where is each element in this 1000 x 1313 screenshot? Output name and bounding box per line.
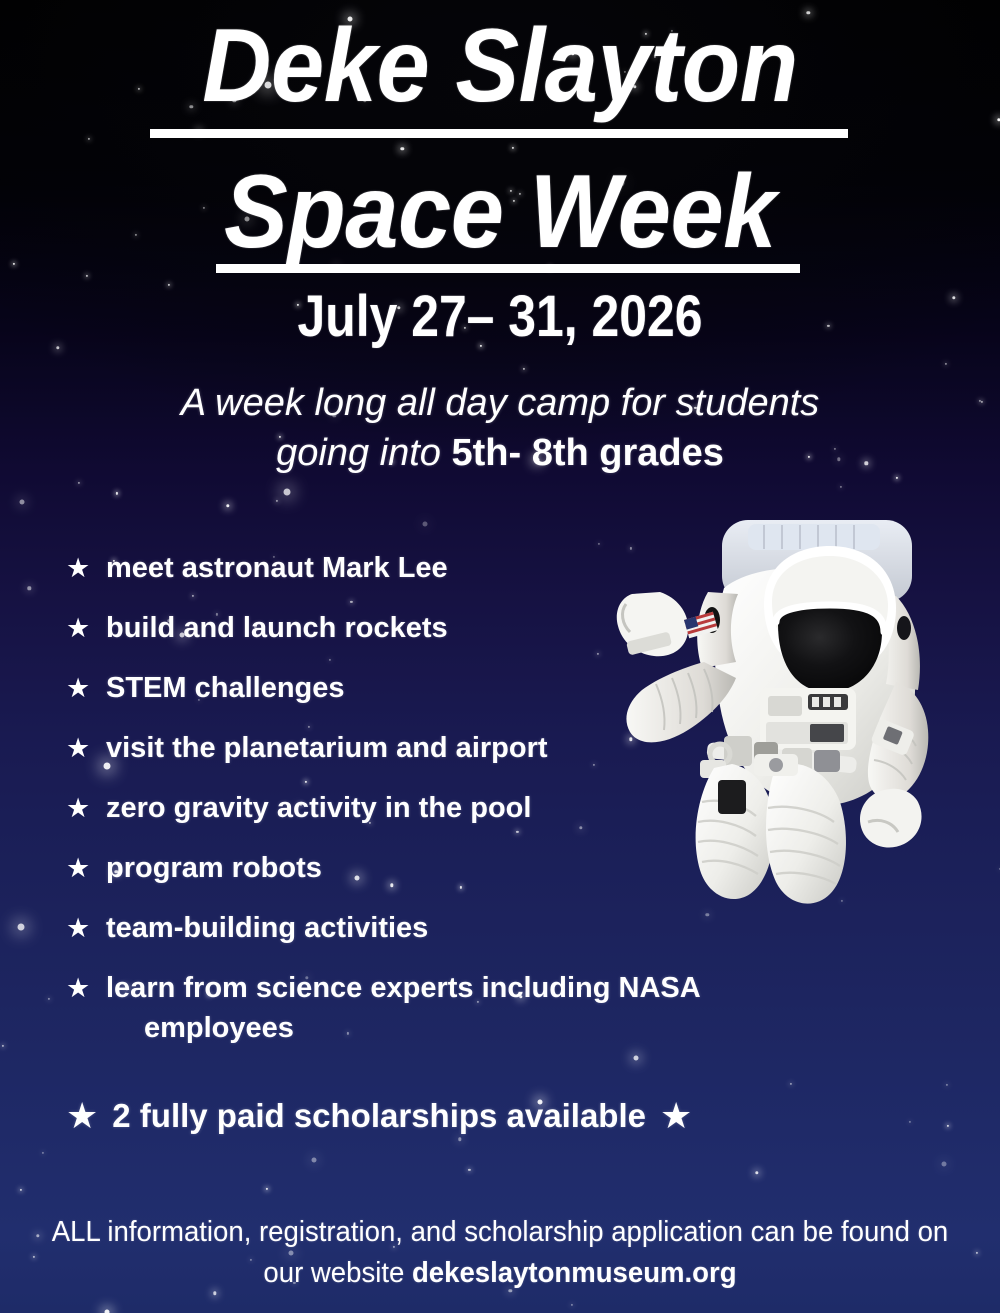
poster-date: July 27– 31, 2026 [70, 288, 930, 346]
star-dot [56, 346, 59, 349]
leg-pocket [718, 780, 746, 814]
star-dot [944, 363, 946, 365]
list-item-text: program robots [106, 852, 322, 884]
list-item-label: learn from science experts including NAS… [106, 968, 701, 1048]
star-dot [841, 900, 843, 902]
website-url[interactable]: dekeslaytonmuseum.org [412, 1257, 737, 1289]
poster-title-line1: Deke Slayton [40, 14, 960, 118]
list-item: ★program robots [66, 848, 706, 888]
star-icon: ★ [66, 548, 106, 588]
star-icon-left: ★ [66, 1094, 98, 1138]
list-item-label: visit the planetarium and airport [106, 728, 548, 768]
list-item-text: visit the planetarium and airport [106, 732, 548, 764]
list-item-text: learn from science experts including NAS… [106, 972, 701, 1004]
astronaut-helmet [764, 546, 896, 674]
activities-list: ★meet astronaut Mark Lee★build and launc… [66, 548, 706, 1068]
list-item-label: team-building activities [106, 908, 428, 948]
title-underline-1 [150, 129, 848, 138]
star-icon-right: ★ [660, 1094, 692, 1138]
star-dot [116, 492, 118, 494]
star-dot [226, 504, 229, 507]
list-item: ★zero gravity activity in the pool [66, 788, 706, 828]
star-dot [105, 1309, 110, 1313]
footer-line-2: our website dekeslaytonmuseum.org [25, 1253, 975, 1294]
star-dot [167, 284, 169, 286]
star-dot [20, 1189, 22, 1191]
astronaut-harness [700, 736, 857, 778]
star-dot [20, 500, 25, 505]
list-item-label: zero gravity activity in the pool [106, 788, 531, 828]
list-item: ★team-building activities [66, 908, 706, 948]
subtitle-line-1: A week long all day camp for students [0, 378, 1000, 428]
scholarship-text: 2 fully paid scholarships available [98, 1094, 660, 1138]
subtitle-line-2: going into 5th- 8th grades [0, 428, 1000, 478]
star-dot [458, 1138, 461, 1141]
list-item-label: meet astronaut Mark Lee [106, 548, 448, 588]
star-dot [942, 1162, 947, 1167]
star-dot [946, 1084, 948, 1086]
astronaut-visor [778, 608, 882, 692]
star-dot [423, 522, 428, 527]
star-icon: ★ [66, 908, 106, 948]
poster-footer: ALL information, registration, and schol… [25, 1212, 975, 1294]
astronaut-hip-connector [754, 754, 798, 776]
footer-line2-lead: our website [263, 1257, 412, 1289]
scholarship-callout: ★ 2 fully paid scholarships available ★ [66, 1094, 692, 1138]
star-dot [946, 1125, 948, 1127]
star-icon: ★ [66, 668, 106, 708]
star-dot [598, 543, 600, 545]
list-item: ★learn from science experts including NA… [66, 968, 706, 1048]
star-icon: ★ [66, 788, 106, 828]
list-item-label: program robots [106, 848, 322, 888]
subtitle-line2-lead: going into [276, 432, 451, 474]
star-dot [790, 1083, 792, 1085]
star-dot [755, 1171, 758, 1174]
star-dot [78, 482, 80, 484]
star-dot [468, 1169, 470, 1171]
title-underline-2 [216, 264, 800, 273]
astronaut-torso [715, 567, 915, 805]
list-item-label: STEM challenges [106, 668, 345, 708]
list-item-text-continued: employees [106, 1008, 701, 1048]
astronaut-leg-left [696, 764, 774, 899]
list-item-text: zero gravity activity in the pool [106, 792, 531, 824]
astronaut-right-shoulder [878, 596, 920, 690]
star-dot [840, 486, 842, 488]
list-item-text: meet astronaut Mark Lee [106, 552, 448, 584]
list-item: ★visit the planetarium and airport [66, 728, 706, 768]
star-icon: ★ [66, 728, 106, 768]
star-icon: ★ [66, 968, 106, 1008]
star-dot [976, 1252, 978, 1254]
star-dot [266, 1188, 268, 1190]
subtitle-grades: 5th- 8th grades [451, 432, 723, 474]
list-item-text: team-building activities [106, 912, 428, 944]
star-dot [88, 137, 90, 139]
star-dot [276, 500, 278, 502]
star-dot [523, 368, 525, 370]
star-dot [571, 1304, 573, 1306]
star-dot [47, 998, 49, 1000]
astronaut-wrist-unit [870, 718, 915, 756]
list-item-text: build and launch rockets [106, 612, 448, 644]
astronaut-leg-right [766, 764, 846, 904]
star-dot [86, 275, 88, 277]
star-dot [401, 147, 404, 150]
list-item: ★meet astronaut Mark Lee [66, 548, 706, 588]
footer-line-1: ALL information, registration, and schol… [25, 1212, 975, 1253]
date-block: July 27– 31, 2026 [0, 288, 1000, 346]
star-dot [909, 1121, 911, 1123]
star-dot [18, 923, 25, 930]
star-dot [311, 1157, 316, 1162]
star-dot [41, 1152, 43, 1154]
list-item: ★STEM challenges [66, 668, 706, 708]
astronaut-backpack [722, 520, 912, 602]
star-dot [705, 913, 708, 916]
star-icon: ★ [66, 848, 106, 888]
star-dot [512, 147, 514, 149]
star-dot [2, 1045, 4, 1047]
star-icon: ★ [66, 608, 106, 648]
star-dot [28, 587, 31, 590]
list-item-text: STEM challenges [106, 672, 345, 704]
astronaut-chest-unit [760, 688, 856, 750]
list-item: ★build and launch rockets [66, 608, 706, 648]
poster-title-line2: Space Week [40, 160, 960, 264]
title-block: Deke Slayton [0, 14, 1000, 118]
poster-subtitle: A week long all day camp for students go… [0, 378, 1000, 478]
star-dot [284, 489, 291, 496]
space-week-poster: Deke Slayton Space Week July 27– 31, 202… [0, 0, 1000, 1313]
astronaut-right-arm [868, 682, 928, 799]
astronaut-glove-right [860, 789, 922, 848]
list-item-label: build and launch rockets [106, 608, 448, 648]
title-block-2: Space Week [0, 160, 1000, 264]
